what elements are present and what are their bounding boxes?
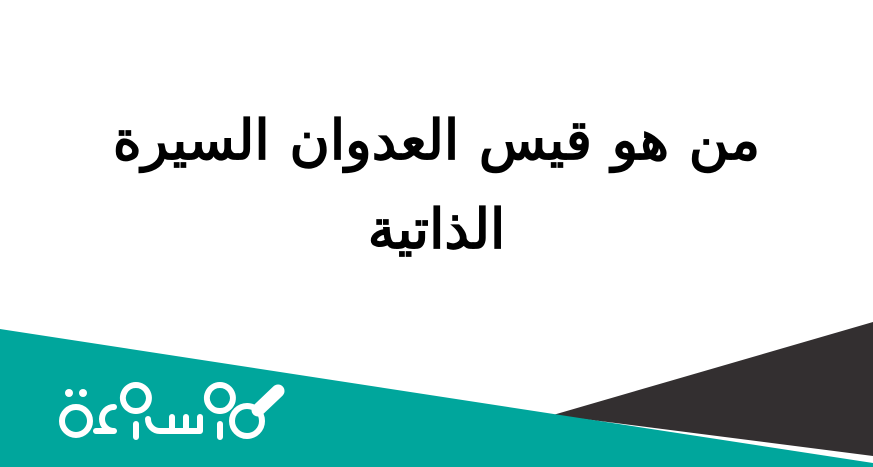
logo-letter-ta-marbuta: [62, 407, 90, 435]
magnifier-handle-icon: [258, 391, 278, 410]
site-logo-mark: [14, 381, 292, 445]
logo-ta-marbuta-dots: [65, 389, 87, 397]
dark-wedge: [553, 322, 873, 456]
logo-letter-waw-2: [123, 385, 149, 437]
site-logo[interactable]: موسوعة: [14, 381, 292, 445]
logo-letter-waw: [207, 385, 233, 437]
logo-letter-seen: [148, 417, 200, 431]
thumbnail-canvas: من هو قيس العدوان السيرة الذاتية: [0, 0, 873, 467]
page-title-line-1: من هو قيس العدوان السيرة: [55, 96, 818, 185]
logo-letter-ain: [96, 407, 114, 431]
page-title-line-2: الذاتية: [55, 185, 818, 274]
page-title: من هو قيس العدوان السيرة الذاتية: [55, 96, 818, 274]
